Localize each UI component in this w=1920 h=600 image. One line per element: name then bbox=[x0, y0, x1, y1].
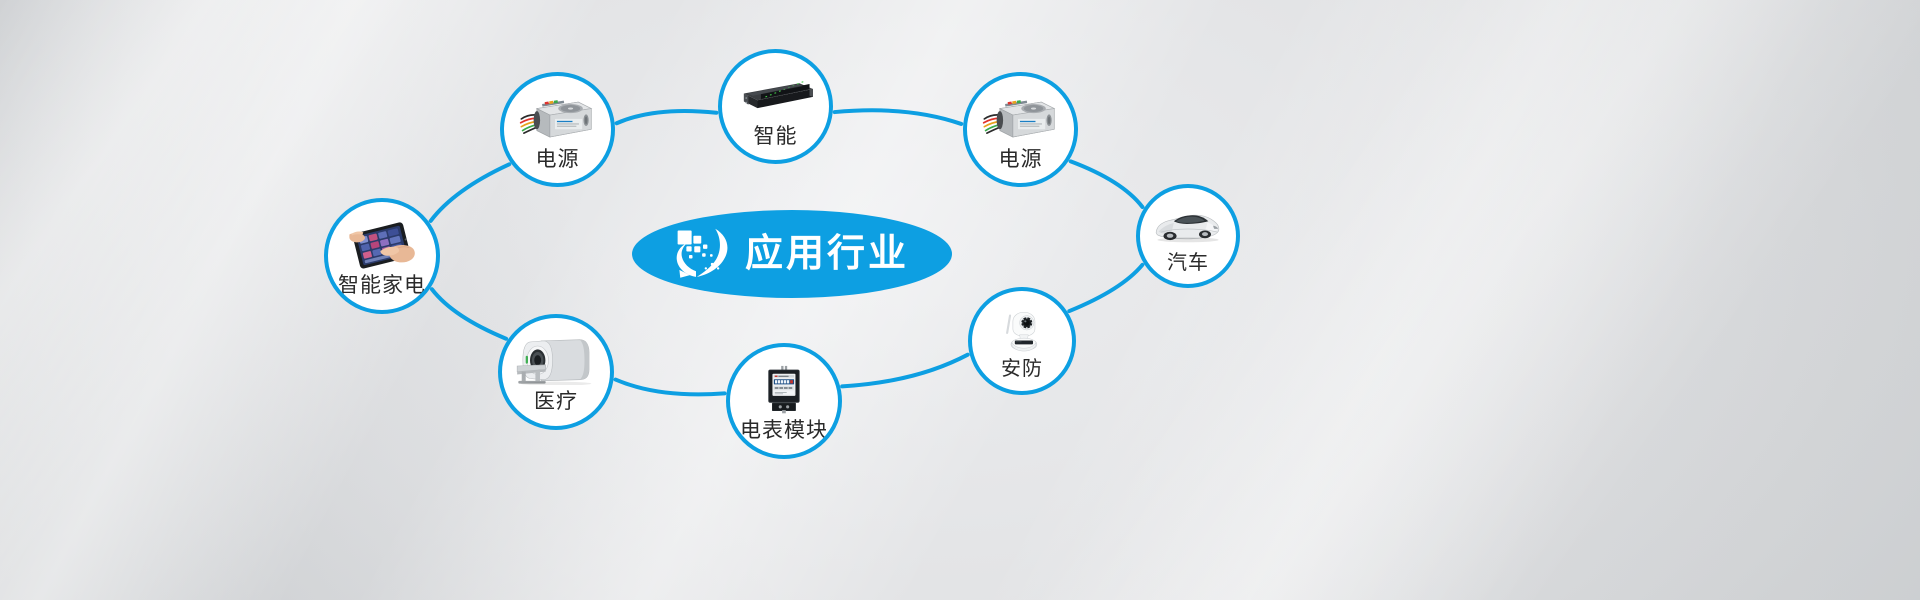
industry-node-label: 医疗 bbox=[534, 391, 578, 412]
connector-power-right-to-automotive bbox=[1071, 161, 1143, 207]
industry-node-security[interactable]: 安防 bbox=[968, 287, 1076, 395]
industry-node-smart[interactable]: 智能 bbox=[718, 49, 833, 164]
electric-meter-icon bbox=[744, 365, 824, 415]
industry-node-label: 智能 bbox=[754, 126, 798, 147]
industry-node-smart-appliance[interactable]: 智能家电 bbox=[324, 198, 440, 314]
industry-node-power-left[interactable]: 电源 bbox=[500, 72, 615, 187]
orbit-pixel-swoosh-logo bbox=[675, 227, 731, 281]
industry-node-label: 安防 bbox=[1001, 359, 1043, 379]
industry-node-label: 汽车 bbox=[1167, 253, 1209, 273]
connector-medical-to-smart-appliance bbox=[432, 289, 506, 338]
ct-scanner-icon bbox=[516, 336, 596, 386]
tablet-touch-icon bbox=[342, 220, 422, 270]
connector-automotive-to-security bbox=[1069, 265, 1142, 311]
connector-smart-appliance-to-power-left bbox=[431, 164, 510, 221]
connector-smart-to-power-right bbox=[835, 110, 962, 124]
atx-power-supply-icon bbox=[518, 93, 597, 142]
industry-node-medical[interactable]: 医疗 bbox=[498, 314, 614, 430]
industry-node-meter-module[interactable]: 电表模块 bbox=[726, 343, 842, 459]
industry-node-power-right[interactable]: 电源 bbox=[963, 72, 1078, 187]
industry-node-label: 电源 bbox=[999, 149, 1043, 170]
industry-node-label: 智能家电 bbox=[338, 275, 426, 296]
application-industries-banner: 电源智能电源汽车安防电表模块医疗智能家电 bbox=[0, 0, 1920, 600]
connector-meter-module-to-medical bbox=[616, 380, 725, 395]
connector-power-left-to-smart bbox=[617, 111, 717, 123]
rack-server-icon bbox=[736, 70, 815, 119]
atx-power-supply-icon bbox=[981, 93, 1060, 142]
industry-node-label: 电源 bbox=[536, 149, 580, 170]
center-badge: 应用行业 bbox=[632, 210, 952, 298]
industry-node-label: 电表模块 bbox=[740, 420, 828, 441]
center-badge-title: 应用行业 bbox=[745, 235, 909, 273]
ip-camera-icon bbox=[985, 307, 1059, 353]
sports-car-icon bbox=[1152, 203, 1223, 247]
connector-security-to-meter-module bbox=[842, 355, 968, 387]
industry-node-automotive[interactable]: 汽车 bbox=[1136, 184, 1240, 288]
connector-network bbox=[0, 0, 1920, 600]
